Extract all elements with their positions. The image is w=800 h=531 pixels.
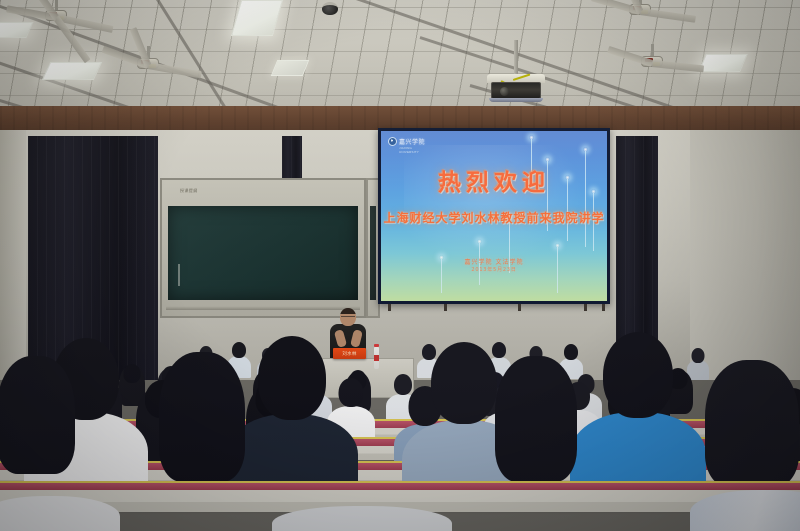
audience-member-foreground xyxy=(282,506,442,531)
projection-screen-surface: 嘉兴学院 JIAXING UNIVERSITY 热烈欢迎 上海财经大学刘水林教授… xyxy=(381,131,607,301)
ceiling-projector xyxy=(487,74,545,102)
chalkboard-left: 授课提纲 xyxy=(160,178,366,318)
audience-member-foreground xyxy=(700,490,800,531)
chalkboard-surface xyxy=(370,206,376,300)
audience-member-foreground xyxy=(496,356,576,492)
university-emblem-icon xyxy=(388,137,397,146)
projector-base xyxy=(489,98,543,102)
slide-organization: 嘉兴学院 文法学院 xyxy=(381,257,607,266)
slide-subheadline: 上海财经大学刘水林教授前来我院讲学 xyxy=(381,209,607,226)
dome-camera-icon xyxy=(322,2,338,15)
chalk-mark xyxy=(178,264,180,286)
audience-member-foreground xyxy=(0,496,110,531)
ceiling-light-panel xyxy=(42,62,102,80)
curtain-right xyxy=(616,136,658,342)
slide-date: 2013年5月23日 xyxy=(381,266,607,273)
audience-member-foreground xyxy=(706,360,798,500)
screen-mount-brackets xyxy=(378,304,610,311)
university-logo: 嘉兴学院 JIAXING UNIVERSITY xyxy=(388,137,425,146)
projector-body xyxy=(491,82,541,99)
audience-seating xyxy=(0,330,800,531)
ceiling-light-panel xyxy=(271,60,309,76)
audience-member-foreground xyxy=(0,356,72,488)
audience-member-foreground xyxy=(160,352,244,492)
glasses-icon xyxy=(341,316,355,319)
projector-mount-pole xyxy=(514,40,518,76)
ceiling-light-panel xyxy=(698,54,748,72)
audience-member-foreground xyxy=(580,332,696,490)
ceiling xyxy=(0,0,800,118)
lecture-hall-photo: 授课提纲 嘉兴学院 JIAXING UNIVERSITY 热烈欢迎 xyxy=(0,0,800,531)
chalkboard-surface xyxy=(168,206,358,300)
audience-member-foreground xyxy=(236,336,348,490)
projector-lens-icon xyxy=(500,87,509,96)
slide-headline: 热烈欢迎 xyxy=(381,163,607,197)
projection-screen: 嘉兴学院 JIAXING UNIVERSITY 热烈欢迎 上海财经大学刘水林教授… xyxy=(378,128,610,304)
